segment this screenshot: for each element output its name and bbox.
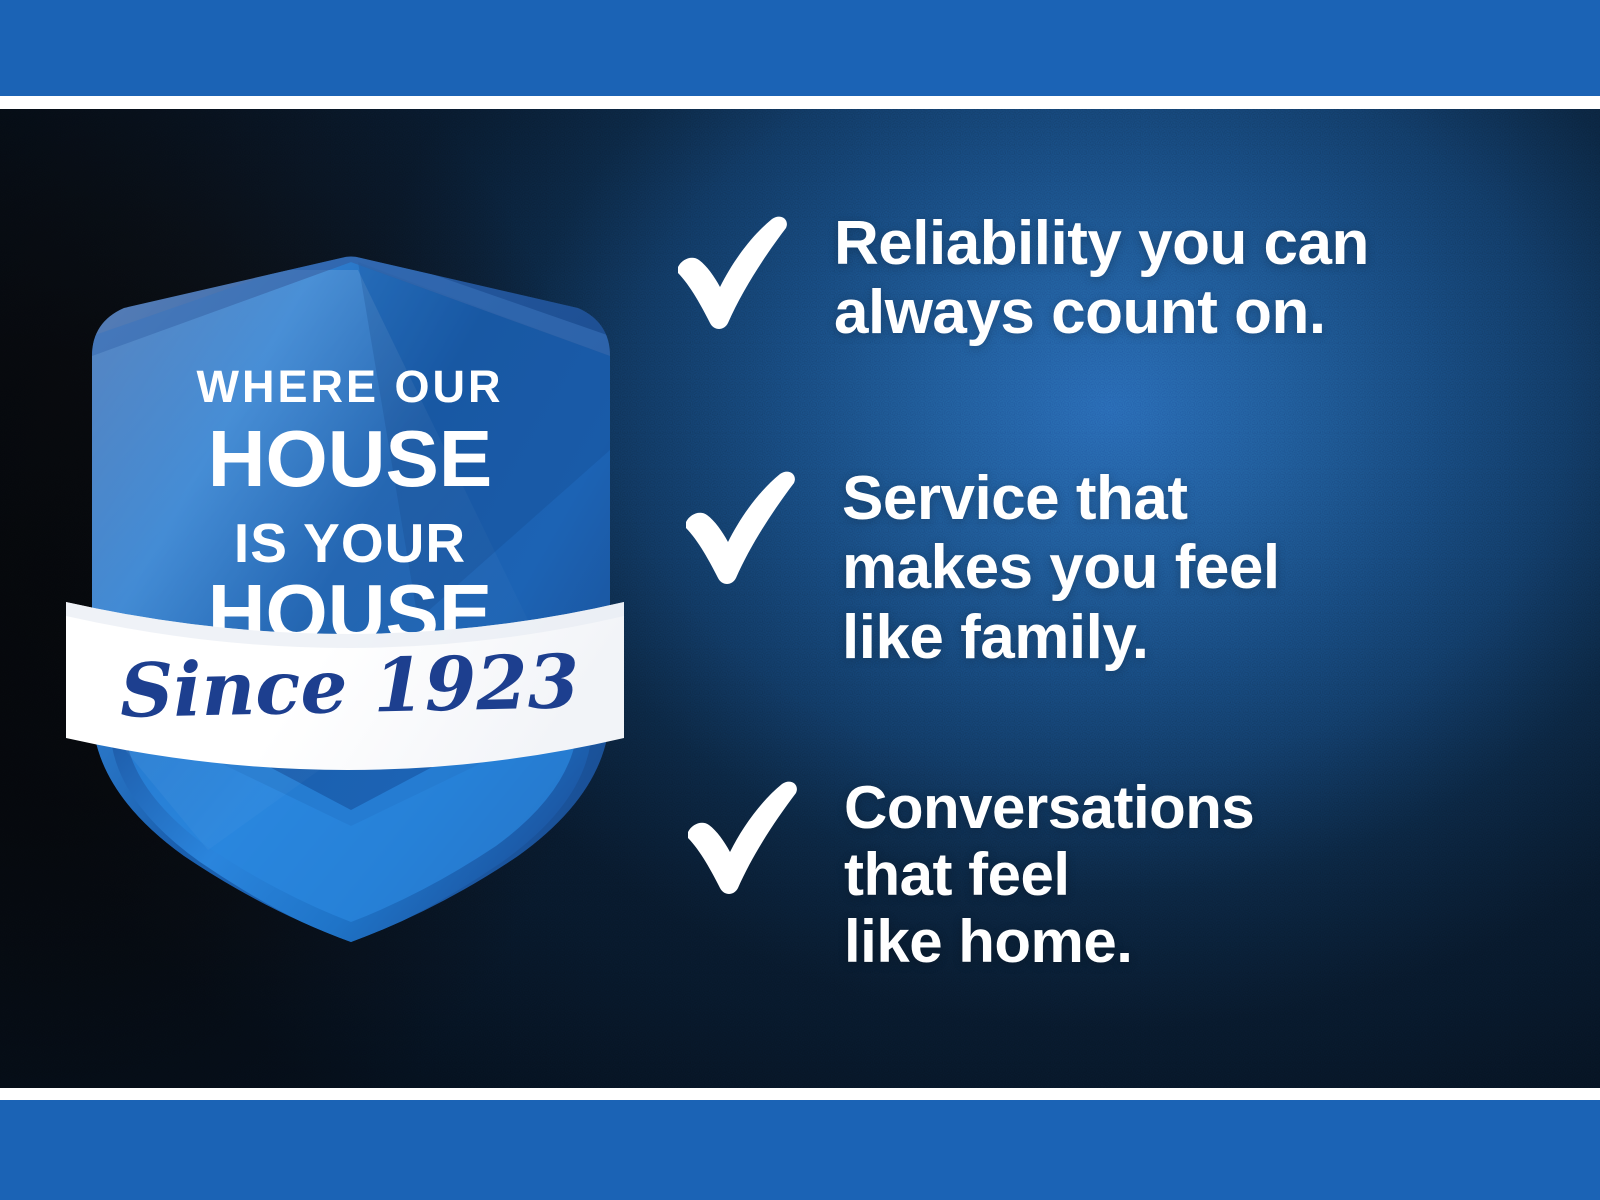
since-banner-text: Since 1923 (119, 639, 580, 735)
bottom-white-divider (0, 1088, 1600, 1100)
bottom-brand-bar (0, 1100, 1600, 1200)
checkmark-icon (680, 468, 800, 586)
shield-line-3: IS YOUR (234, 512, 466, 574)
benefits-list: Reliability you can always count on. Ser… (672, 109, 1572, 1088)
benefit-text-3: Conversations that feel like home. (844, 774, 1254, 976)
checkmark-icon (682, 778, 802, 896)
checkmark-icon (672, 213, 792, 331)
top-brand-bar (0, 0, 1600, 96)
brand-emblem: WHERE OUR HOUSE IS YOUR HOUSE Since 1923 (58, 150, 638, 940)
benefit-text-2: Service that makes you feel like family. (842, 464, 1280, 672)
promo-graphic: WHERE OUR HOUSE IS YOUR HOUSE Since 1923… (0, 0, 1600, 1200)
benefit-text-1: Reliability you can always count on. (834, 209, 1369, 348)
shield-line-2: HOUSE (208, 414, 493, 503)
top-white-divider (0, 96, 1600, 109)
shield-line-1: WHERE OUR (197, 361, 504, 412)
benefit-item-3: Conversations that feel like home. (682, 774, 1254, 976)
benefit-item-1: Reliability you can always count on. (672, 209, 1369, 348)
benefit-item-2: Service that makes you feel like family. (680, 464, 1280, 672)
